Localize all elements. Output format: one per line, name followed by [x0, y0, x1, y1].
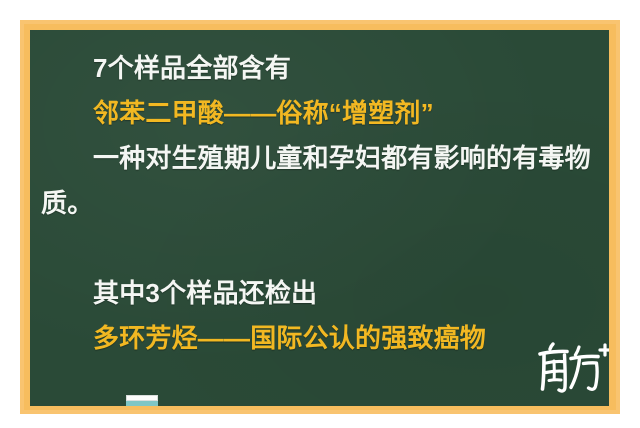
accent-text-phthalates: 邻苯二甲酸——俗称“增塑剂” — [93, 98, 434, 128]
chalkboard-eraser — [126, 395, 158, 406]
poster-canvas: 7个样品全部含有 邻苯二甲酸——俗称“增塑剂” 一种对生殖期儿童和孕妇都有影响的… — [0, 0, 640, 428]
nanfang-plus-logo — [538, 342, 609, 398]
paragraph-1-line-3: 一种对生殖期儿童和孕妇都有影响的有毒物质。 — [41, 136, 599, 226]
chalkboard-surface: 7个样品全部含有 邻苯二甲酸——俗称“增塑剂” 一种对生殖期儿童和孕妇都有影响的… — [30, 30, 609, 406]
accent-text-pah: 多环芳烃——国际公认的强致癌物 — [93, 323, 486, 353]
chalkboard-text-block: 7个样品全部含有 邻苯二甲酸——俗称“增塑剂” 一种对生殖期儿童和孕妇都有影响的… — [41, 46, 599, 361]
eraser-felt — [126, 401, 158, 406]
paragraph-gap — [41, 226, 599, 271]
paragraph-1-line-2: 邻苯二甲酸——俗称“增塑剂” — [41, 91, 599, 136]
paragraph-2-line-2: 多环芳烃——国际公认的强致癌物 — [41, 316, 599, 361]
paragraph-2-line-1: 其中3个样品还检出 — [41, 271, 599, 316]
paragraph-1-line-1: 7个样品全部含有 — [41, 46, 599, 91]
